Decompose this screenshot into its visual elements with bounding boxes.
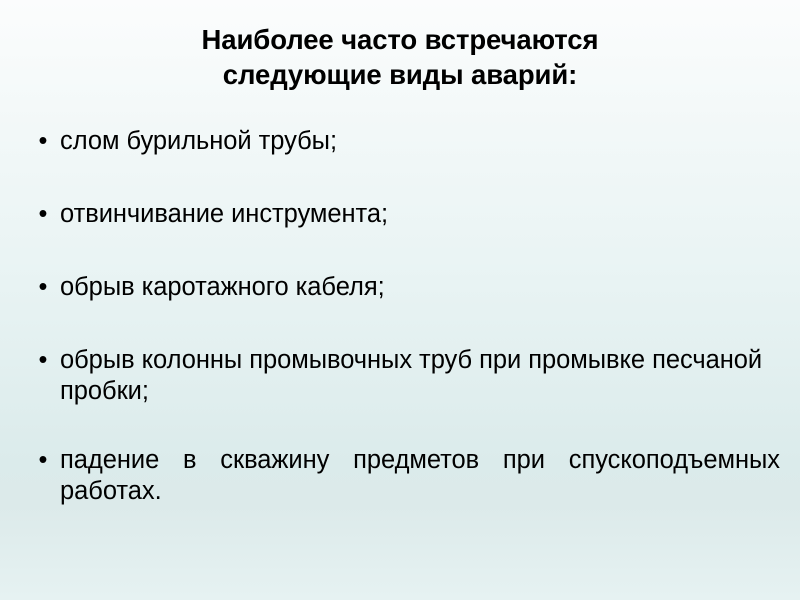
list-item: • отвинчивание инструмента; <box>28 199 780 230</box>
list-item: • падение в скважину предметов при спуск… <box>28 445 780 507</box>
list-item: • слом бурильной трубы; <box>28 126 780 157</box>
bullet-point-icon: • <box>37 272 49 303</box>
bullet-point-icon: • <box>37 199 49 230</box>
bullet-point-icon: • <box>37 345 49 376</box>
presentation-slide: Наиболее часто встречаются следующие вид… <box>0 0 800 600</box>
slide-title-line-1: Наиболее часто встречаются <box>40 22 760 57</box>
list-item-label: обрыв колонны промывочных труб при промы… <box>60 345 780 407</box>
slide-title: Наиболее часто встречаются следующие вид… <box>40 22 760 92</box>
bullet-list: • слом бурильной трубы; • отвинчивание и… <box>28 126 780 545</box>
list-item: • обрыв каротажного кабеля; <box>28 272 780 303</box>
bullet-point-icon: • <box>37 445 49 476</box>
list-item: • обрыв колонны промывочных труб при про… <box>28 345 780 407</box>
list-item-label: падение в скважину предметов при спускоп… <box>60 445 780 507</box>
list-item-label: отвинчивание инструмента; <box>60 199 780 230</box>
slide-title-line-2: следующие виды аварий: <box>40 57 760 92</box>
list-item-label: обрыв каротажного кабеля; <box>60 272 780 303</box>
list-item-label: слом бурильной трубы; <box>60 126 780 157</box>
bullet-point-icon: • <box>37 126 49 157</box>
